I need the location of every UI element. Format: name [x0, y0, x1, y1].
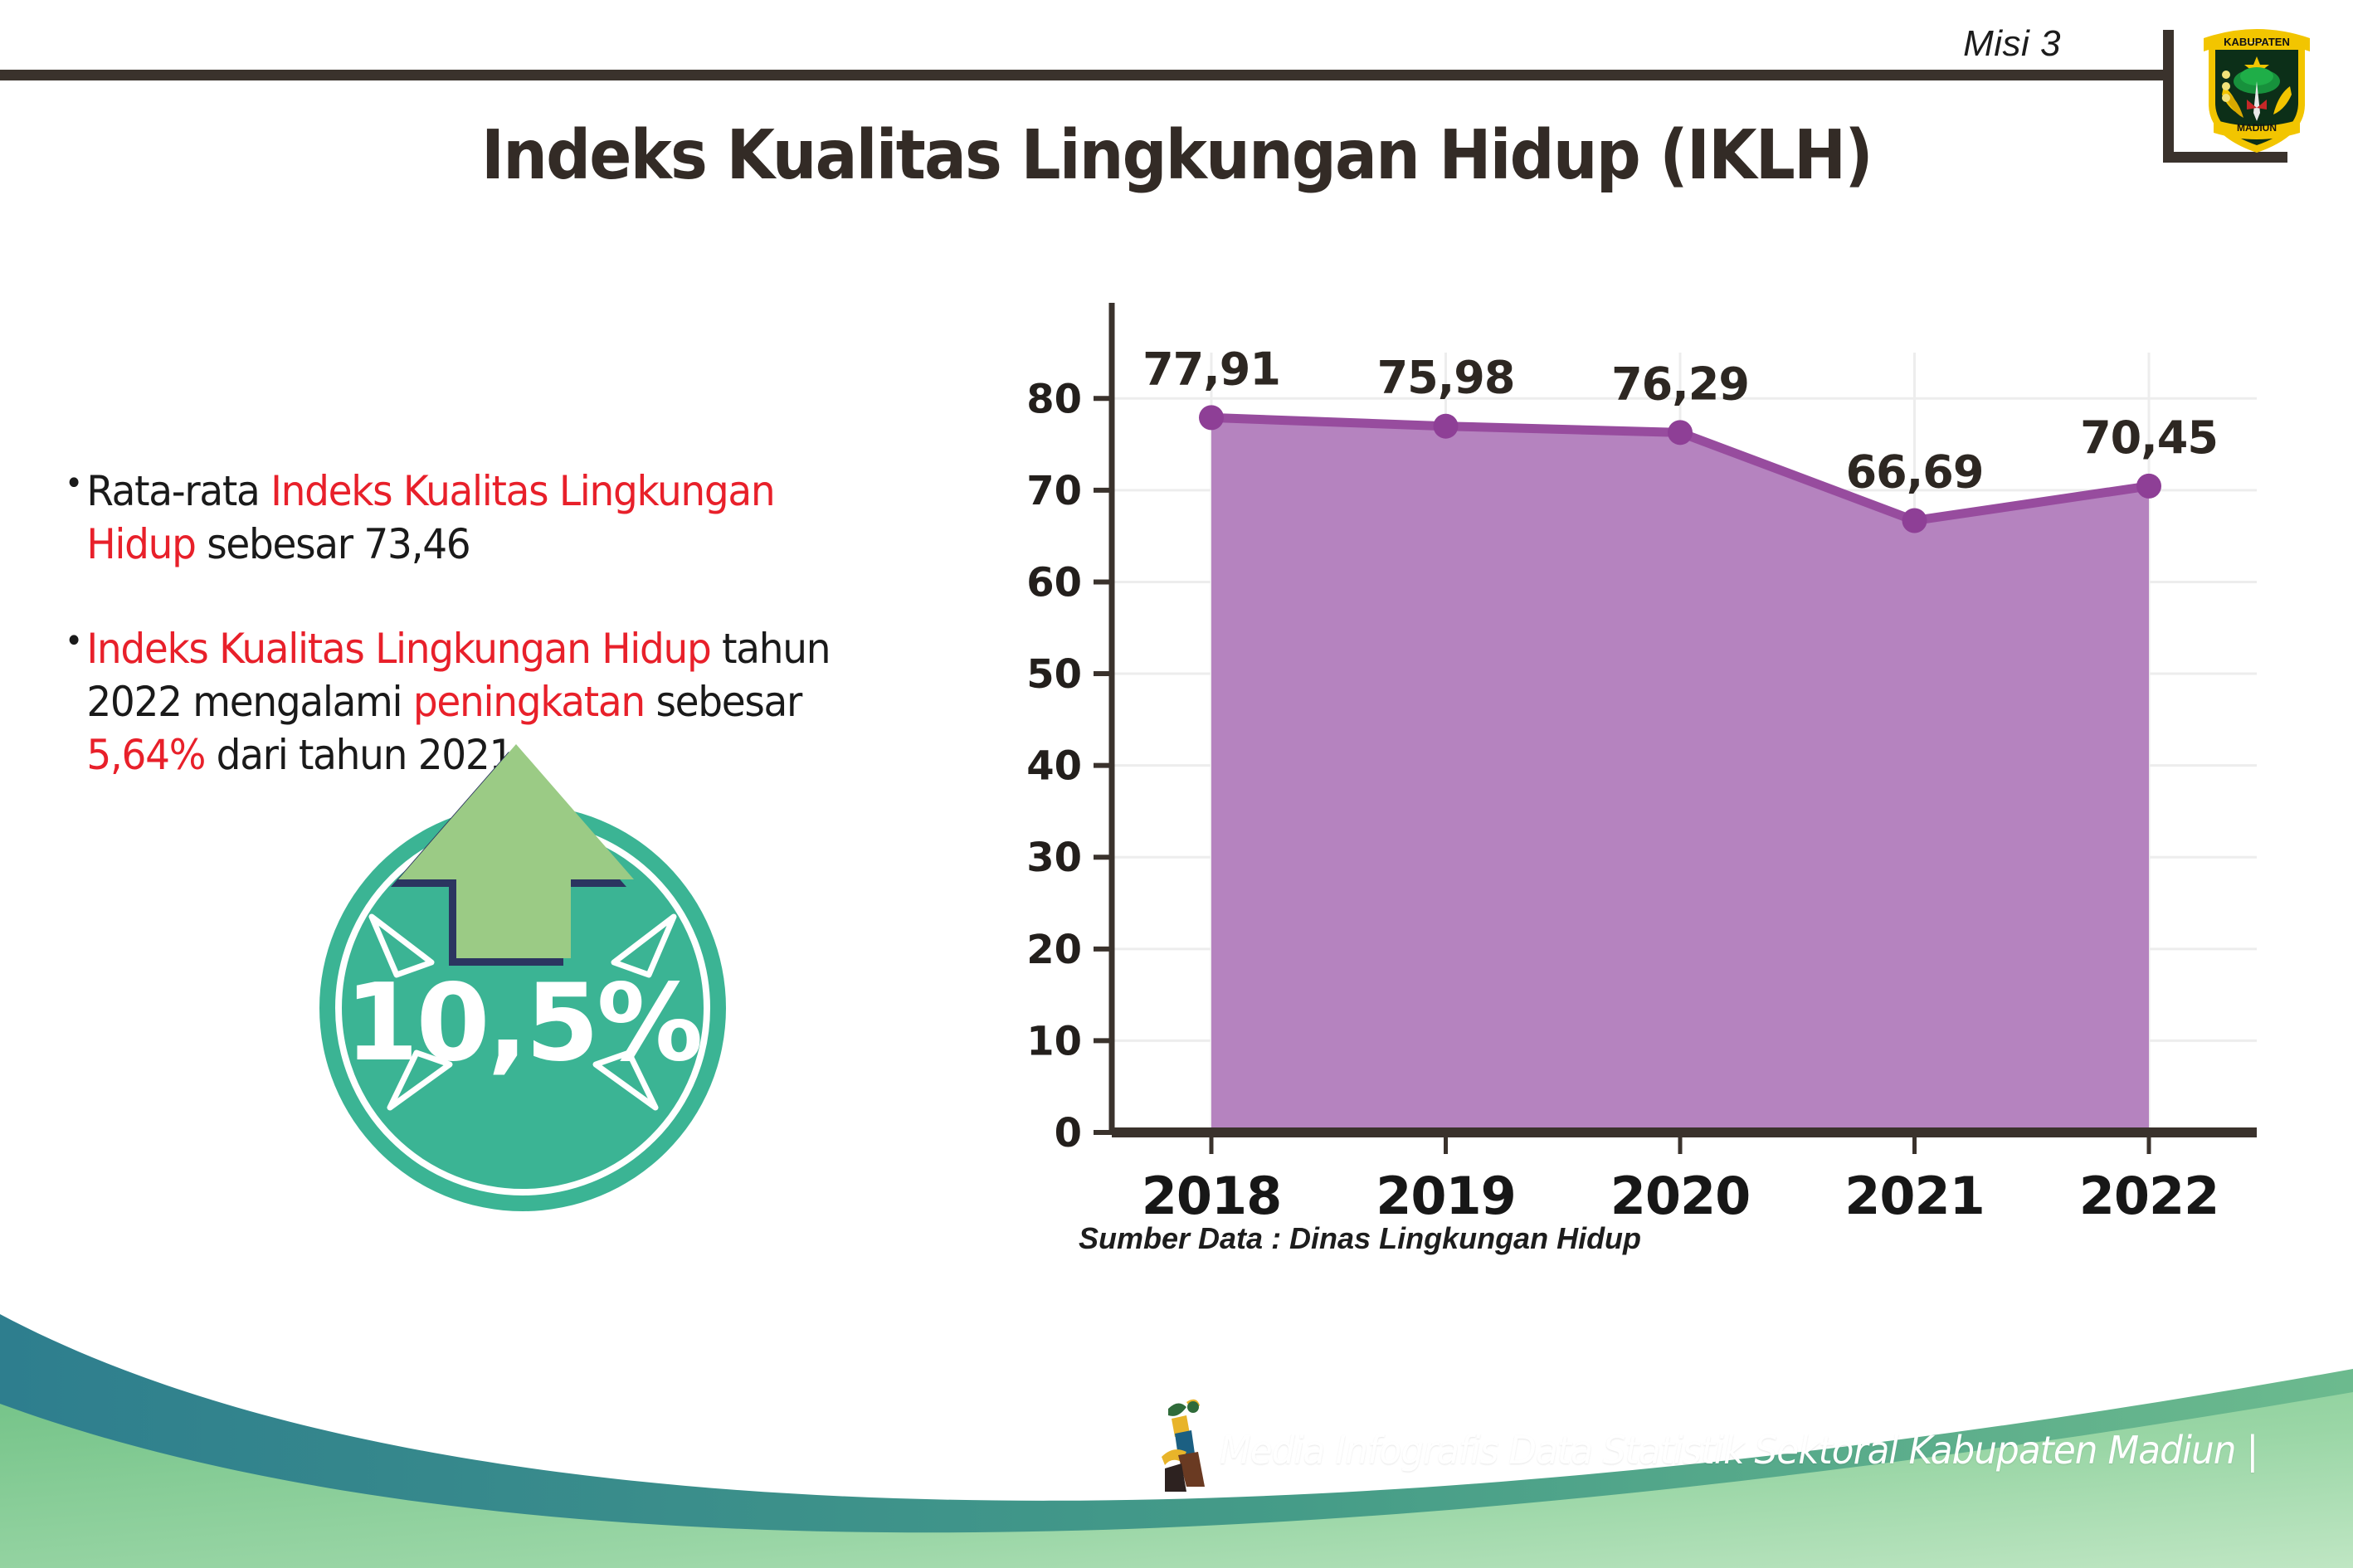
data-point-label: 66,69: [1846, 446, 1984, 498]
bullet-part-highlight: 5,64%: [86, 731, 205, 779]
data-point-label: 75,98: [1377, 352, 1515, 404]
data-point-marker: [1199, 405, 1224, 430]
y-axis-tick-label: 60: [1026, 559, 1082, 606]
bullet-part: Rata-rata: [86, 467, 270, 515]
x-axis-tick-label: 2021: [1844, 1166, 1985, 1226]
footer-text: Media Infografis Data Statistik Sektoral…: [1220, 1428, 2258, 1473]
data-point-label: 70,45: [2080, 411, 2218, 464]
data-point-marker: [2136, 474, 2161, 499]
bullet-item-average: Rata-rata Indeks Kualitas Lingkungan Hid…: [65, 465, 891, 571]
source-note: Sumber Data : Dinas Lingkungan Hidup: [1079, 1221, 1641, 1256]
data-point-marker: [1434, 414, 1459, 439]
x-axis-tick-label: 2018: [1142, 1166, 1282, 1226]
iklh-area-chart: 77,9175,9876,2966,6970,45010203040506070…: [962, 274, 2290, 1269]
bullet-part-highlight: Indeks Kualitas Lingkungan Hidup: [86, 625, 710, 673]
y-axis-tick-label: 10: [1026, 1018, 1082, 1064]
data-point-label: 77,91: [1142, 343, 1280, 395]
data-point-marker: [1902, 508, 1927, 533]
data-point-marker: [1668, 420, 1693, 445]
y-axis-tick-label: 80: [1026, 376, 1082, 422]
badge-value: 10,5%: [344, 962, 700, 1085]
y-axis-tick-label: 0: [1055, 1110, 1082, 1157]
y-axis-tick-label: 20: [1026, 927, 1082, 973]
y-axis-tick-label: 70: [1026, 468, 1082, 514]
misi-label: Misi 3: [1963, 23, 2061, 65]
x-axis-tick-label: 2022: [2079, 1166, 2219, 1226]
increase-badge: 10,5%: [307, 751, 738, 1215]
x-axis-tick-label: 2019: [1376, 1166, 1516, 1226]
y-axis-tick-label: 30: [1026, 835, 1082, 881]
data-point-label: 76,29: [1611, 358, 1749, 410]
y-axis-tick-label: 40: [1026, 743, 1082, 790]
header-rule: [0, 70, 2174, 80]
y-axis-tick-label: 50: [1026, 651, 1082, 698]
page-title: Indeks Kualitas Lingkungan Hidup (IKLH): [94, 116, 2258, 195]
area-fill: [1211, 417, 2149, 1132]
bullet-part: sebesar: [645, 678, 801, 726]
bullet-part-highlight: peningkatan: [413, 678, 645, 726]
x-axis-tick-label: 2020: [1610, 1166, 1751, 1226]
emblem-top-text: KABUPATEN: [2224, 36, 2290, 48]
bullet-part: sebesar 73,46: [196, 520, 470, 568]
